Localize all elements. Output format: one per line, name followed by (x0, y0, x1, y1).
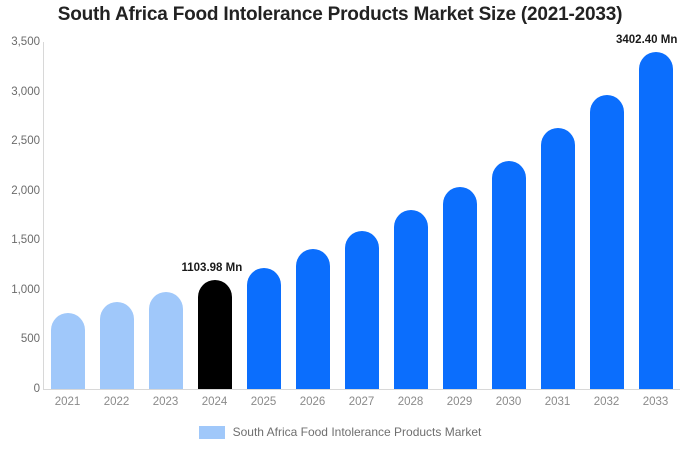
y-axis-tick-labels: 05001,0001,5002,0002,5003,0003,500 (0, 0, 40, 450)
y-axis-tick-500: 500 (4, 333, 40, 345)
bar-2026[interactable] (296, 249, 330, 389)
x-axis-tick-2024: 2024 (202, 396, 228, 408)
bar-chart: South Africa Food Intolerance Products M… (0, 0, 680, 450)
y-axis-tick-2500: 2,500 (4, 135, 40, 147)
legend-label-market: South Africa Food Intolerance Products M… (233, 425, 482, 439)
bar-2031[interactable] (541, 128, 575, 389)
x-axis-tick-2030: 2030 (496, 396, 522, 408)
bar-2021[interactable] (51, 313, 85, 389)
data-label-2024: 1103.98 Mn (182, 262, 243, 274)
x-axis-tick-2023: 2023 (153, 396, 179, 408)
y-axis-tick-3000: 3,000 (4, 86, 40, 98)
bar-2029[interactable] (443, 187, 477, 389)
bar-2028[interactable] (394, 210, 428, 389)
chart-title: South Africa Food Intolerance Products M… (0, 4, 680, 26)
x-axis-tick-2029: 2029 (447, 396, 473, 408)
x-axis-tick-2021: 2021 (55, 396, 81, 408)
x-axis-tick-2025: 2025 (251, 396, 277, 408)
y-axis-tick-0: 0 (4, 383, 40, 395)
y-axis-tick-1500: 1,500 (4, 234, 40, 246)
legend-swatch-market (199, 426, 225, 439)
y-axis-tick-1000: 1,000 (4, 284, 40, 296)
bar-2027[interactable] (345, 231, 379, 389)
x-axis-tick-2032: 2032 (594, 396, 620, 408)
bar-2022[interactable] (100, 302, 134, 389)
y-axis-tick-2000: 2,000 (4, 185, 40, 197)
bar-2033[interactable] (639, 52, 673, 389)
bar-2030[interactable] (492, 161, 526, 389)
bars-container (43, 42, 680, 389)
x-axis-tick-2031: 2031 (545, 396, 571, 408)
bar-2032[interactable] (590, 95, 624, 389)
bar-2024[interactable] (198, 280, 232, 389)
bar-2023[interactable] (149, 292, 183, 389)
x-axis-tick-2027: 2027 (349, 396, 375, 408)
x-axis-tick-2033: 2033 (643, 396, 669, 408)
bar-2025[interactable] (247, 268, 281, 389)
x-axis-line (43, 389, 680, 390)
y-axis-tick-3500: 3,500 (4, 36, 40, 48)
x-axis-tick-2022: 2022 (104, 396, 130, 408)
chart-legend: South Africa Food Intolerance Products M… (0, 425, 680, 439)
x-axis-tick-2026: 2026 (300, 396, 326, 408)
data-label-2033: 3402.40 Mn (616, 34, 677, 46)
x-axis-tick-2028: 2028 (398, 396, 424, 408)
